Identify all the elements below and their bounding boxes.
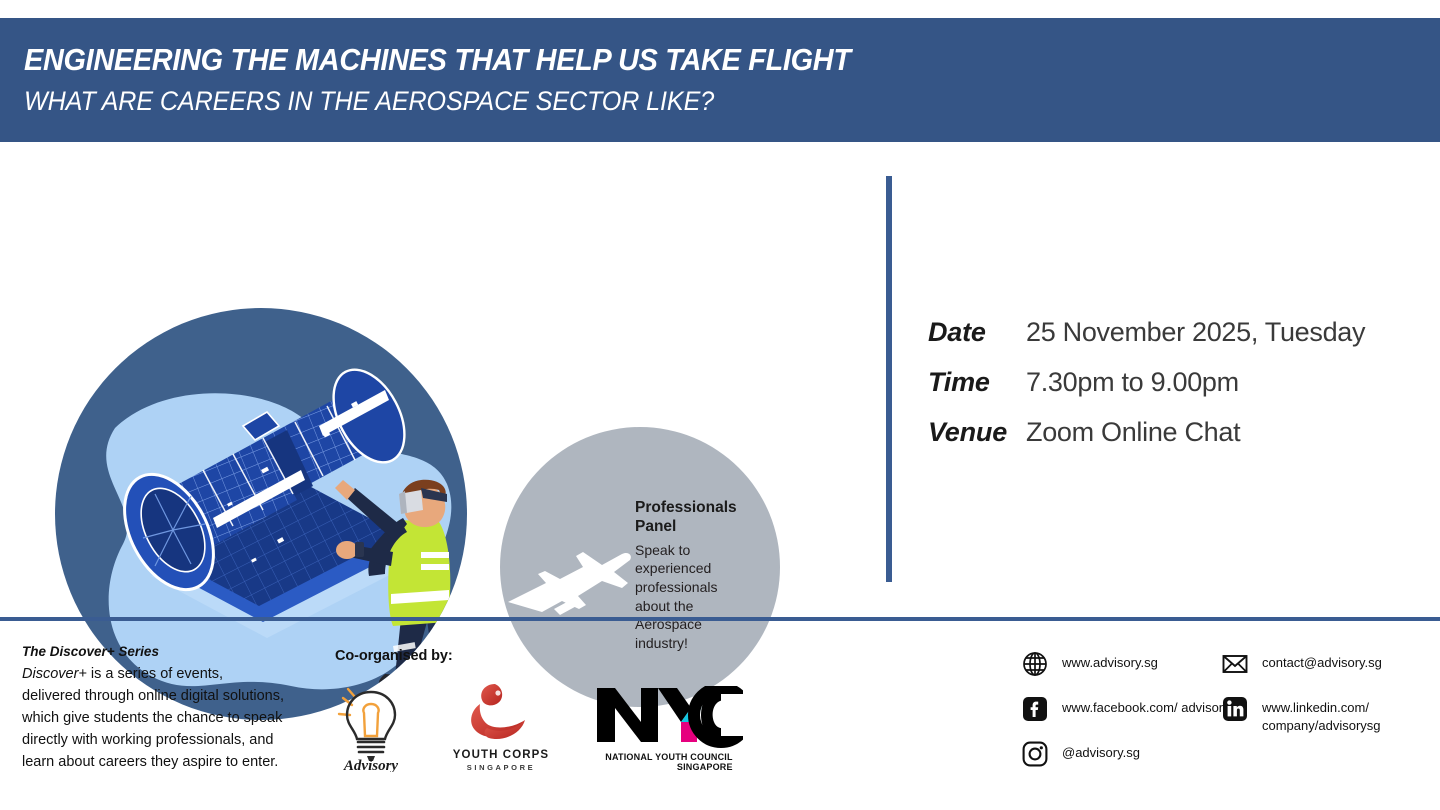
advisory-wordmark: Advisory bbox=[343, 758, 399, 772]
footer: The Discover+ Series Discover+ is a seri… bbox=[0, 621, 1440, 810]
contact-website[interactable]: www.advisory.sg bbox=[1022, 651, 1243, 677]
detail-value-venue: Zoom Online Chat bbox=[1026, 417, 1240, 448]
page-subtitle: WHAT ARE CAREERS IN THE AEROSPACE SECTOR… bbox=[24, 84, 1341, 119]
co-organisers: Co-organised by: Advisory bbox=[335, 648, 743, 772]
logo-row: Advisory bbox=[335, 680, 743, 772]
contact-column-right: contact@advisory.sg www.linkedin.com/ co… bbox=[1222, 651, 1440, 753]
detail-value-time: 7.30pm to 9.00pm bbox=[1026, 367, 1239, 398]
national-youth-council-logo: NATIONAL YOUTH COUNCIL SINGAPORE bbox=[595, 686, 743, 772]
youth-corps-singapore-logo: YOUTH CORPS SINGAPORE bbox=[451, 680, 551, 772]
detail-row-time: Time 7.30pm to 9.00pm bbox=[928, 367, 1428, 398]
main-stage: Professionals Panel Speak to experienced… bbox=[0, 142, 1440, 618]
contact-email-text: contact@advisory.sg bbox=[1262, 651, 1382, 672]
contact-website-text: www.advisory.sg bbox=[1062, 651, 1158, 672]
nyc-line2: SINGAPORE bbox=[605, 762, 732, 772]
globe-icon bbox=[1022, 651, 1048, 677]
detail-row-venue: Venue Zoom Online Chat bbox=[928, 417, 1428, 448]
professionals-panel-title: Professionals Panel bbox=[635, 499, 747, 537]
detail-label-venue: Venue bbox=[928, 417, 1026, 448]
blurb-title: The Discover+ Series bbox=[22, 642, 284, 662]
contact-facebook[interactable]: www.facebook.com/ advisorysg bbox=[1022, 696, 1243, 722]
detail-label-time: Time bbox=[928, 367, 1026, 398]
youth-corps-line1: YOUTH CORPS bbox=[453, 749, 549, 761]
discover-series-blurb: The Discover+ Series Discover+ is a seri… bbox=[22, 642, 284, 773]
email-icon bbox=[1222, 651, 1248, 677]
contact-column-left: www.advisory.sg www.facebook.com/ adviso… bbox=[1022, 651, 1243, 786]
header-banner: ENGINEERING THE MACHINES THAT HELP US TA… bbox=[0, 18, 1440, 142]
facebook-icon bbox=[1022, 696, 1048, 722]
nyc-line1: NATIONAL YOUTH COUNCIL bbox=[605, 752, 732, 762]
details-accent-bar bbox=[886, 176, 892, 582]
page-title: ENGINEERING THE MACHINES THAT HELP US TA… bbox=[24, 41, 1341, 79]
youth-corps-line2: SINGAPORE bbox=[453, 763, 549, 772]
co-organised-label: Co-organised by: bbox=[335, 648, 743, 664]
detail-label-date: Date bbox=[928, 317, 1026, 348]
blurb-lead: Discover+ bbox=[22, 666, 87, 682]
contact-instagram-text: @advisory.sg bbox=[1062, 741, 1140, 762]
airplane-icon bbox=[504, 539, 634, 624]
contact-email[interactable]: contact@advisory.sg bbox=[1222, 651, 1440, 677]
detail-row-date: Date 25 November 2025, Tuesday bbox=[928, 317, 1428, 348]
contact-linkedin[interactable]: www.linkedin.com/ company/advisorysg bbox=[1222, 696, 1440, 734]
detail-value-date: 25 November 2025, Tuesday bbox=[1026, 317, 1365, 348]
instagram-icon bbox=[1022, 741, 1048, 767]
contact-linkedin-text: www.linkedin.com/ company/advisorysg bbox=[1262, 696, 1440, 734]
contact-facebook-text: www.facebook.com/ advisorysg bbox=[1062, 696, 1243, 717]
advisory-logo: Advisory bbox=[335, 684, 407, 772]
blurb-body: Discover+ is a series of events, deliver… bbox=[22, 663, 284, 773]
linkedin-icon bbox=[1222, 696, 1248, 722]
event-details: Date 25 November 2025, Tuesday Time 7.30… bbox=[928, 317, 1428, 467]
contact-instagram[interactable]: @advisory.sg bbox=[1022, 741, 1243, 767]
